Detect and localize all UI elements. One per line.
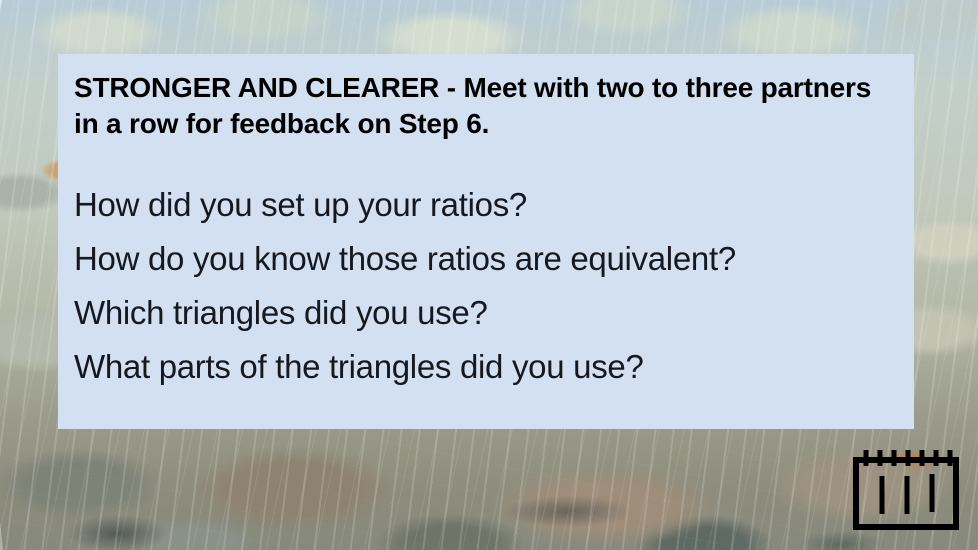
panel-heading: STRONGER AND CLEARER - Meet with two to … xyxy=(74,70,896,141)
question-item-2: How do you know those ratios are equival… xyxy=(74,242,896,275)
text-panel: STRONGER AND CLEARER - Meet with two to … xyxy=(58,54,914,429)
flip-chart-easel-svg xyxy=(849,450,963,532)
slide: STRONGER AND CLEARER - Meet with two to … xyxy=(0,0,978,550)
question-gap-1 xyxy=(74,221,896,242)
question-list: How did you set up your ratios? How do y… xyxy=(74,188,896,383)
question-gap-2 xyxy=(74,275,896,296)
question-item-3: Which triangles did you use? xyxy=(74,296,896,329)
heading-question-spacer xyxy=(74,141,896,188)
flip-chart-easel-icon xyxy=(849,450,963,532)
question-item-1: How did you set up your ratios? xyxy=(74,188,896,221)
question-item-4: What parts of the triangles did you use? xyxy=(74,350,896,383)
question-gap-3 xyxy=(74,329,896,350)
